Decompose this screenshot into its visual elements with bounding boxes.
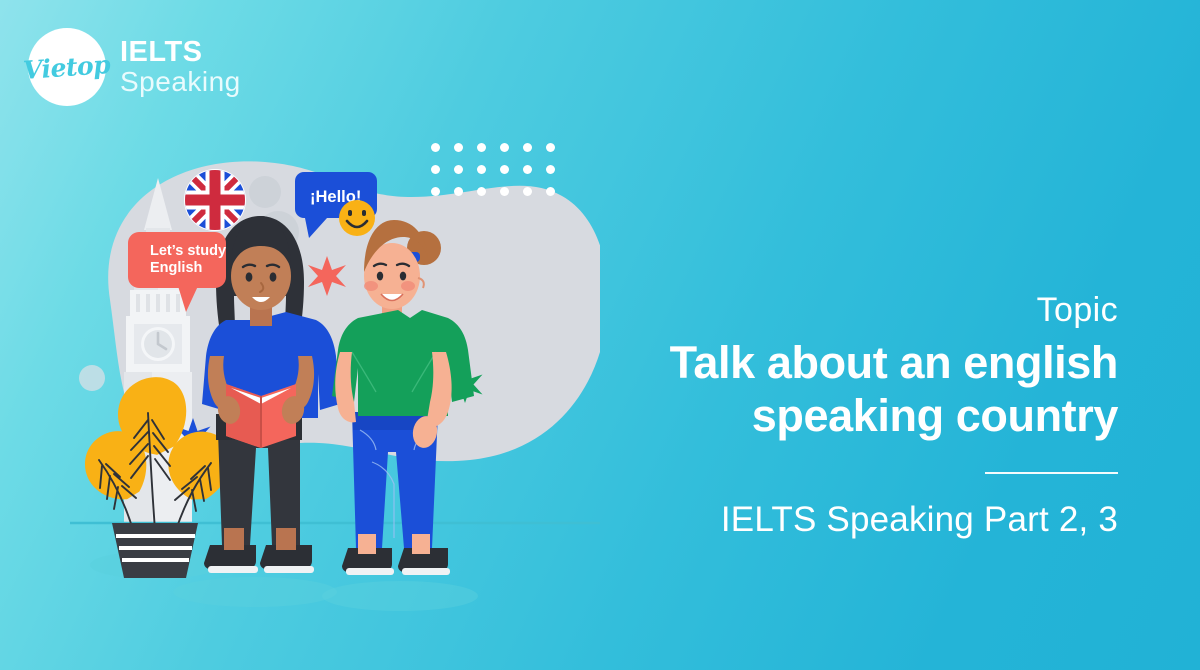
logo-speaking-label: Speaking xyxy=(120,68,241,97)
vietop-logo[interactable]: Vietop IELTS Speaking xyxy=(28,28,241,106)
topic-eyebrow: Topic xyxy=(558,292,1118,329)
shadow xyxy=(173,577,337,607)
shadow xyxy=(322,581,478,611)
logo-text: IELTS Speaking xyxy=(120,38,241,96)
ielts-speaking-banner: Let’s study English ¡Hello! xyxy=(0,0,1200,670)
logo-circle: Vietop xyxy=(28,28,106,106)
vietop-wordmark: Vietop xyxy=(23,49,112,84)
uk-flag-icon xyxy=(184,169,246,231)
page-title: Talk about an english speaking country xyxy=(558,337,1118,441)
divider xyxy=(985,472,1118,474)
smiley-face-icon xyxy=(339,200,375,236)
page-title-line2: speaking country xyxy=(558,390,1118,442)
part-label: IELTS Speaking Part 2, 3 xyxy=(558,500,1118,540)
logo-ielts-label: IELTS xyxy=(120,38,241,68)
bubble-red-line1: Let’s study xyxy=(150,243,226,259)
decor-circle xyxy=(249,176,281,208)
bubble-red-line2: English xyxy=(150,260,202,276)
page-title-line1: Talk about an english xyxy=(558,337,1118,389)
dot-grid-decoration xyxy=(431,143,569,209)
decor-circle xyxy=(79,365,105,391)
headline-block: Topic Talk about an english speaking cou… xyxy=(558,292,1118,540)
